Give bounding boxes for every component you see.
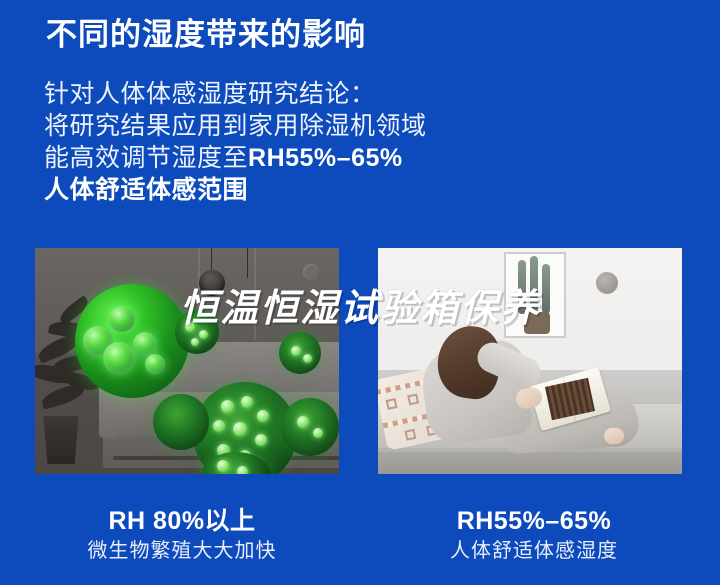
intro-line-1: 针对人体体感湿度研究结论： — [44, 78, 427, 110]
microbe-spike-icon — [237, 466, 248, 474]
microbe-spike-icon — [241, 396, 253, 408]
caption-high-humidity: RH 80%以上 微生物繁殖大大加快 — [12, 505, 352, 565]
cushion-pattern-motif — [407, 393, 419, 405]
microbe-sphere-small-icon — [279, 332, 321, 374]
intro-line-2: 将研究结果应用到家用除湿机领域 — [44, 110, 427, 142]
cactus-art-icon — [542, 264, 550, 314]
cactus-art-icon — [530, 256, 538, 318]
wall-seam-icon — [254, 248, 256, 340]
intro-line-3-prefix: 能高效调节湿度至 — [44, 144, 248, 172]
intro-paragraph: 针对人体体感湿度研究结论： 将研究结果应用到家用除湿机领域 能高效调节湿度至RH… — [44, 78, 427, 206]
microbe-spike-icon — [291, 346, 301, 356]
cushion-pattern-motif — [386, 398, 398, 410]
wall-art-frame — [504, 252, 566, 338]
vase-art-icon — [524, 312, 550, 334]
intro-line-3: 能高效调节湿度至RH55%–65% — [44, 142, 427, 174]
microbe-spike-icon — [255, 434, 267, 446]
caption-comfort-humidity: RH55%–65% 人体舒适体感湿度 — [364, 505, 704, 565]
caption-right-title: RH55%–65% — [364, 505, 704, 537]
plant-pot — [41, 416, 81, 464]
microbe-sphere-small-icon — [281, 398, 339, 456]
photo-comfort-humidity — [378, 248, 682, 474]
pendant-lamp-icon — [199, 270, 225, 296]
microbe-nucleus-icon — [145, 354, 165, 374]
microbe-sphere-small-icon — [153, 394, 209, 450]
figure-foot — [604, 428, 624, 444]
microbe-spike-icon — [313, 428, 323, 438]
microbe-spike-icon — [217, 460, 229, 472]
microbe-nucleus-icon — [133, 332, 157, 356]
cushion-pattern-motif — [405, 429, 417, 441]
microbe-spike-icon — [191, 338, 199, 346]
microbe-spike-icon — [257, 410, 269, 422]
wall-knob-icon — [303, 264, 319, 280]
microbe-spike-icon — [221, 400, 234, 413]
microbe-spike-icon — [303, 354, 312, 363]
caption-left-title: RH 80%以上 — [12, 505, 352, 537]
woman-reading-figure — [424, 342, 630, 460]
wall-disc-icon — [596, 272, 618, 294]
pendant-cord-icon — [247, 248, 248, 278]
microbe-nucleus-icon — [109, 306, 135, 332]
caption-left-subtitle: 微生物繁殖大大加快 — [12, 537, 352, 565]
microbe-spike-icon — [199, 330, 208, 339]
photo-high-humidity — [35, 248, 339, 474]
microbe-spike-icon — [233, 422, 247, 436]
microbe-spike-icon — [297, 416, 309, 428]
microbe-sphere-small-icon — [175, 310, 219, 354]
microbe-spike-icon — [213, 420, 225, 432]
humidity-range-emphasis: RH55%–65% — [248, 144, 403, 172]
poster-canvas: 不同的湿度带来的影响 针对人体体感湿度研究结论： 将研究结果应用到家用除湿机领域… — [0, 0, 720, 585]
microbe-sphere-large-icon — [75, 284, 189, 398]
page-title: 不同的湿度带来的影响 — [46, 16, 366, 53]
microbe-nucleus-icon — [103, 342, 135, 374]
caption-right-subtitle: 人体舒适体感湿度 — [364, 537, 704, 565]
microbe-spike-icon — [185, 322, 195, 332]
cactus-art-icon — [518, 260, 526, 314]
intro-line-4: 人体舒适体感范围 — [44, 174, 427, 206]
